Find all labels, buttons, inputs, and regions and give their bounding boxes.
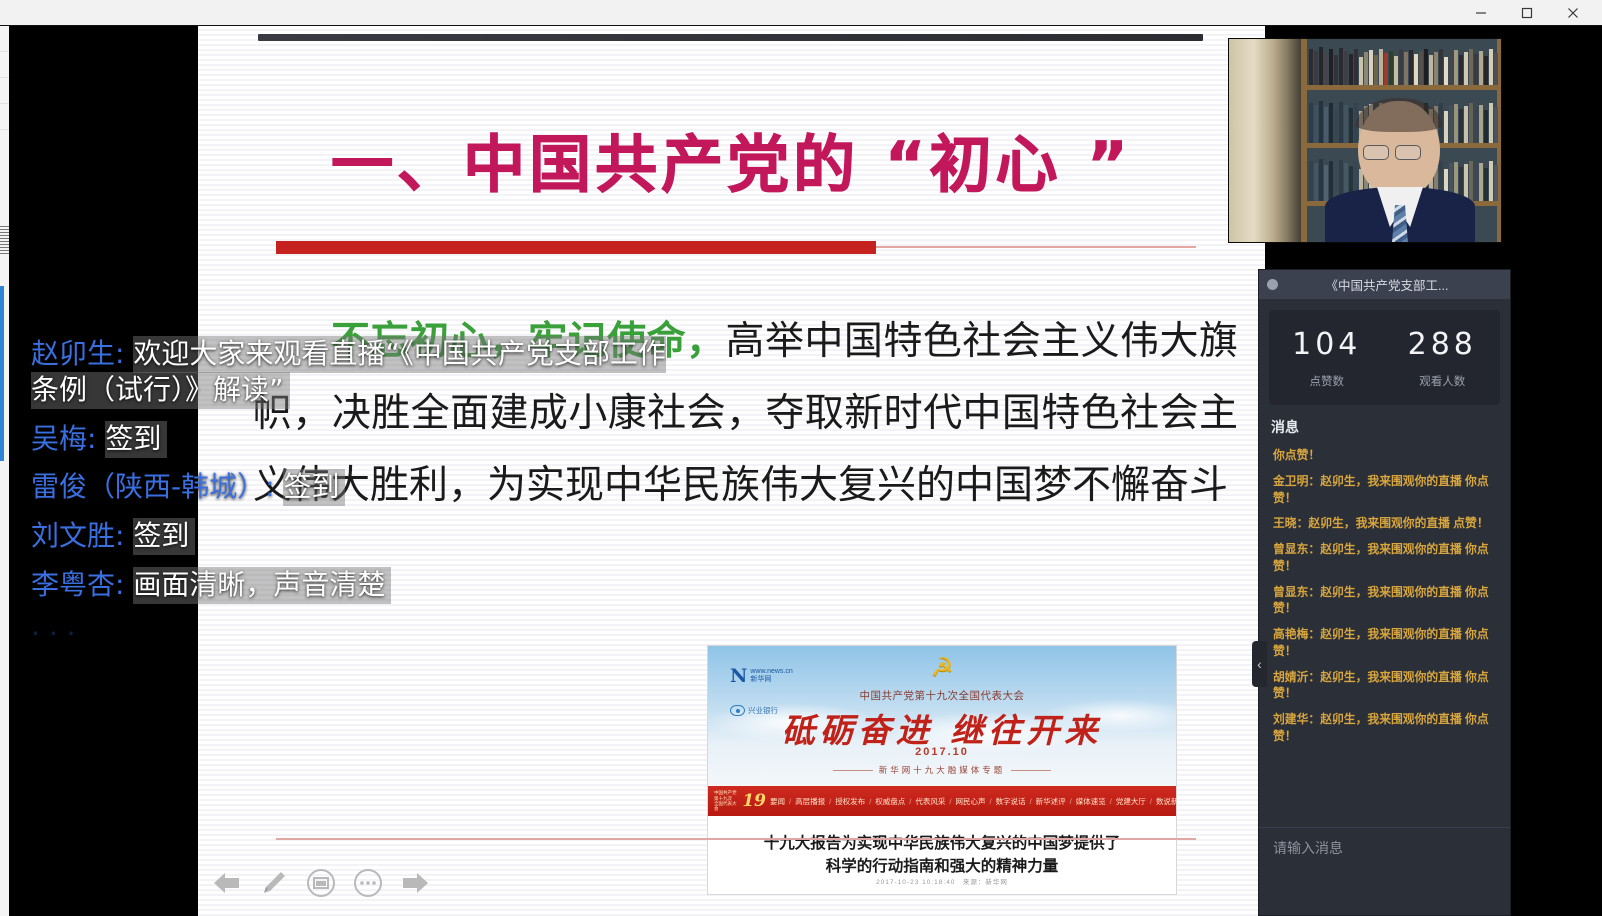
live-stats: 104 点赞数 288 观看人数	[1269, 310, 1500, 405]
live-message-text: 你点赞！	[1273, 448, 1320, 462]
viewers-value: 288	[1385, 327, 1501, 362]
slide-top-bar	[258, 34, 1203, 41]
live-message-name: 刘建华：	[1273, 712, 1320, 726]
live-message-name: 胡婧沂：	[1273, 670, 1320, 684]
slide-title: 一、中国共产党的 “初心 ”	[198, 114, 1265, 204]
title-underline-tail	[876, 246, 1196, 248]
overlay-chat-text: 签到	[105, 421, 167, 458]
live-message-name: 王晓：	[1273, 516, 1308, 530]
screen: 一、中国共产党的 “初心 ” 不忘初心，牢记使命，高举中国特色社会主义伟大旗帜，…	[0, 0, 1602, 916]
slide-body-text: 不忘初心，牢记使命，高举中国特色社会主义伟大旗帜，决胜全面建成小康社会，夺取新时…	[253, 306, 1238, 522]
close-icon[interactable]	[1550, 0, 1596, 26]
presenter-webcam[interactable]	[1228, 38, 1502, 243]
viewers-stat: 288 观看人数	[1385, 327, 1501, 389]
slide-body-green-2: 牢记使命，	[528, 319, 725, 364]
embedded-news-image: N www.news.cn 新华网 兴业银行 ☭ 中国共产党第十九次全国代表大会…	[707, 645, 1177, 895]
news-headline: 砥砺奋进 继往开来	[708, 704, 1176, 752]
messages-section-label: 消息	[1259, 405, 1510, 445]
news-caption-line2: 科学的行动指南和强大的精神力量	[726, 855, 1158, 878]
background-app-sliver	[0, 26, 9, 916]
news-nav-item: 权威盘点	[871, 796, 909, 807]
title-underline-bar	[276, 241, 876, 254]
slide-body-green-1: 不忘初心，	[331, 319, 528, 364]
sliver-row	[0, 26, 9, 52]
window-dot-icon[interactable]	[1267, 279, 1278, 290]
live-message: 胡婧沂：赵卯生，我来围观你的直播 你点赞！	[1273, 669, 1500, 703]
shelf-side	[1301, 39, 1307, 243]
books-row	[1309, 45, 1498, 85]
presenter-figure	[1325, 101, 1475, 243]
message-input[interactable]	[1273, 840, 1496, 856]
live-panel-titlebar: 《中国共产党支部工...	[1259, 270, 1510, 299]
window-controls	[1458, 0, 1596, 26]
likes-label: 点赞数	[1269, 373, 1385, 389]
news-date: 2017.10	[708, 746, 1176, 758]
slide-view-icon[interactable]	[304, 866, 338, 900]
overlay-chat-name: 吴梅	[31, 422, 87, 455]
news-nav-item: 授权发布	[831, 796, 869, 807]
news-caption-line1: 十九大报告为实现中华民族伟大复兴的中国梦提供了	[726, 832, 1158, 855]
minimize-icon[interactable]	[1458, 0, 1504, 26]
news-tagline: 新华网十九大融媒体专题	[708, 764, 1176, 776]
more-options-icon[interactable]	[351, 866, 385, 900]
overlay-chat-name: 赵卯生	[31, 337, 115, 370]
live-panel-title: 《中国共产党支部工...	[1286, 275, 1502, 294]
news-nav-badge-number: 19	[742, 793, 766, 810]
live-message: 刘建华：赵卯生，我来围观你的直播 你点赞！	[1273, 711, 1500, 745]
news-subtitle: 中国共产党第十九次全国代表大会	[708, 688, 1176, 703]
likes-stat: 104 点赞数	[1269, 327, 1385, 389]
overlay-chat-text: 签到	[133, 518, 195, 555]
overlay-chat-name: 刘文胜	[31, 519, 115, 552]
news-nav-item: 网民心声	[951, 796, 989, 807]
live-message: 王晓：赵卯生，我来围观你的直播 点赞！	[1273, 515, 1500, 532]
sliver-row	[0, 104, 9, 130]
panel-collapse-handle[interactable]: ‹	[1252, 641, 1267, 687]
news-nav-item: 代表风采	[911, 796, 949, 807]
news-nav-item: 媒体速览	[1072, 796, 1110, 807]
live-message: 曾显东：赵卯生，我来围观你的直播 你点赞！	[1273, 584, 1500, 618]
news-caption: 十九大报告为实现中华民族伟大复兴的中国梦提供了 科学的行动指南和强大的精神力量	[708, 816, 1176, 879]
news-credit: 2017-10-23 10:18:40 来源：新华网	[708, 876, 1176, 886]
live-message: 金卫明：赵卯生，我来围观你的直播 你点赞！	[1273, 473, 1500, 507]
slide-bottom-rule	[276, 838, 1196, 840]
live-message-name: 曾显东：	[1273, 542, 1320, 556]
previous-slide-icon[interactable]	[210, 866, 244, 900]
presentation-slide[interactable]: 一、中国共产党的 “初心 ” 不忘初心，牢记使命，高举中国特色社会主义伟大旗帜，…	[198, 26, 1265, 916]
news-logo-main: 新华网	[750, 676, 771, 683]
live-message-list[interactable]: 你点赞！ 金卫明：赵卯生，我来围观你的直播 你点赞！ 王晓：赵卯生，我来围观你的…	[1259, 445, 1510, 827]
party-emblem-icon: ☭	[930, 654, 953, 680]
news-logo-url: www.news.cn	[750, 668, 792, 675]
live-message-text: 赵卯生，我来围观你的直播 点赞！	[1308, 516, 1488, 530]
news-nav-item: 高层播报	[791, 796, 829, 807]
window-titlebar	[0, 0, 1602, 26]
glasses-right-lens	[1395, 145, 1421, 160]
news-nav-item: 新华述评	[1032, 796, 1070, 807]
news-nav-item: 党建大厅	[1112, 796, 1150, 807]
xinhuanet-logo: N www.news.cn 新华网	[730, 662, 792, 690]
video-stage: 一、中国共产党的 “初心 ” 不忘初心，牢记使命，高举中国特色社会主义伟大旗帜，…	[9, 26, 1602, 916]
live-message: 你点赞！	[1273, 447, 1500, 464]
news-nav-item: 数字说话	[992, 796, 1030, 807]
maximize-icon[interactable]	[1504, 0, 1550, 26]
overlay-chat-name: 李粤杏	[31, 568, 115, 601]
message-input-area[interactable]	[1259, 827, 1510, 915]
pen-annotate-icon[interactable]	[257, 866, 291, 900]
news-nav-items: 要闻/ 高层播报/ 授权发布/ 权威盘点/ 代表风采/ 网民心声/ 数字说话/ …	[766, 796, 1176, 807]
slide-toolbar	[210, 866, 432, 900]
live-message-name: 高艳梅：	[1273, 627, 1320, 641]
likes-value: 104	[1269, 327, 1385, 362]
shelf-board	[1301, 85, 1502, 90]
news-nav-item: 要闻	[766, 796, 789, 807]
sliver-row	[0, 78, 9, 104]
next-slide-icon[interactable]	[398, 866, 432, 900]
sliver-accent-bar	[0, 286, 4, 461]
live-message: 高艳梅：赵卯生，我来围观你的直播 你点赞！	[1273, 626, 1500, 660]
sliver-text-lines	[0, 226, 9, 256]
sliver-row	[0, 52, 9, 78]
presenter-hair	[1356, 98, 1442, 132]
live-stream-panel[interactable]: 《中国共产党支部工... 104 点赞数 288 观看人数 消息 你点赞！ 金卫	[1258, 269, 1511, 916]
news-banner: N www.news.cn 新华网 兴业银行 ☭ 中国共产党第十九次全国代表大会…	[708, 646, 1176, 786]
glasses-left-lens	[1363, 145, 1389, 160]
live-message-name: 金卫明：	[1273, 474, 1320, 488]
news-nav-item: 数说新时代	[1152, 796, 1176, 807]
news-nav-bar: 中国共产党第十九次全国代表大会 19 要闻/ 高层播报/ 授权发布/ 权威盘点/…	[708, 786, 1176, 816]
viewers-label: 观看人数	[1385, 373, 1501, 389]
live-message-name: 曾显东：	[1273, 585, 1320, 599]
news-nav-badge: 中国共产党第十九次全国代表大会 19	[714, 788, 766, 814]
live-message: 曾显东：赵卯生，我来围观你的直播 你点赞！	[1273, 541, 1500, 575]
